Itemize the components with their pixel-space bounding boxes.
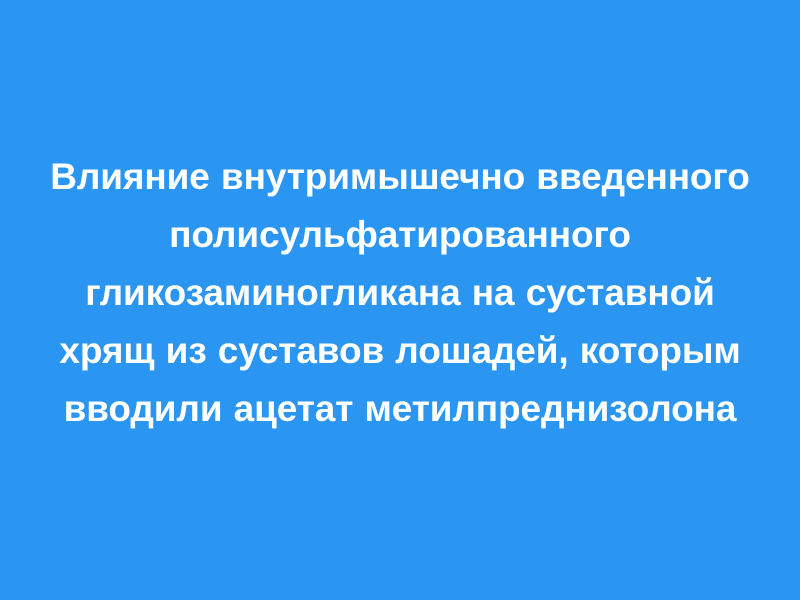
title-line-2: полисульфатированного (40, 206, 760, 264)
title-line-4: хрящ из суставов лошадей, которым (40, 322, 760, 380)
title-line-1: Влияние внутримышечно введенного (40, 148, 760, 206)
page-title: Влияние внутримышечно введенного полисул… (40, 148, 760, 438)
title-block: Влияние внутримышечно введенного полисул… (30, 148, 770, 438)
title-line-5: вводили ацетат метилпреднизолона (40, 380, 760, 438)
title-line-3: гликозаминогликана на суставной (40, 264, 760, 322)
title-card: Влияние внутримышечно введенного полисул… (0, 0, 800, 600)
